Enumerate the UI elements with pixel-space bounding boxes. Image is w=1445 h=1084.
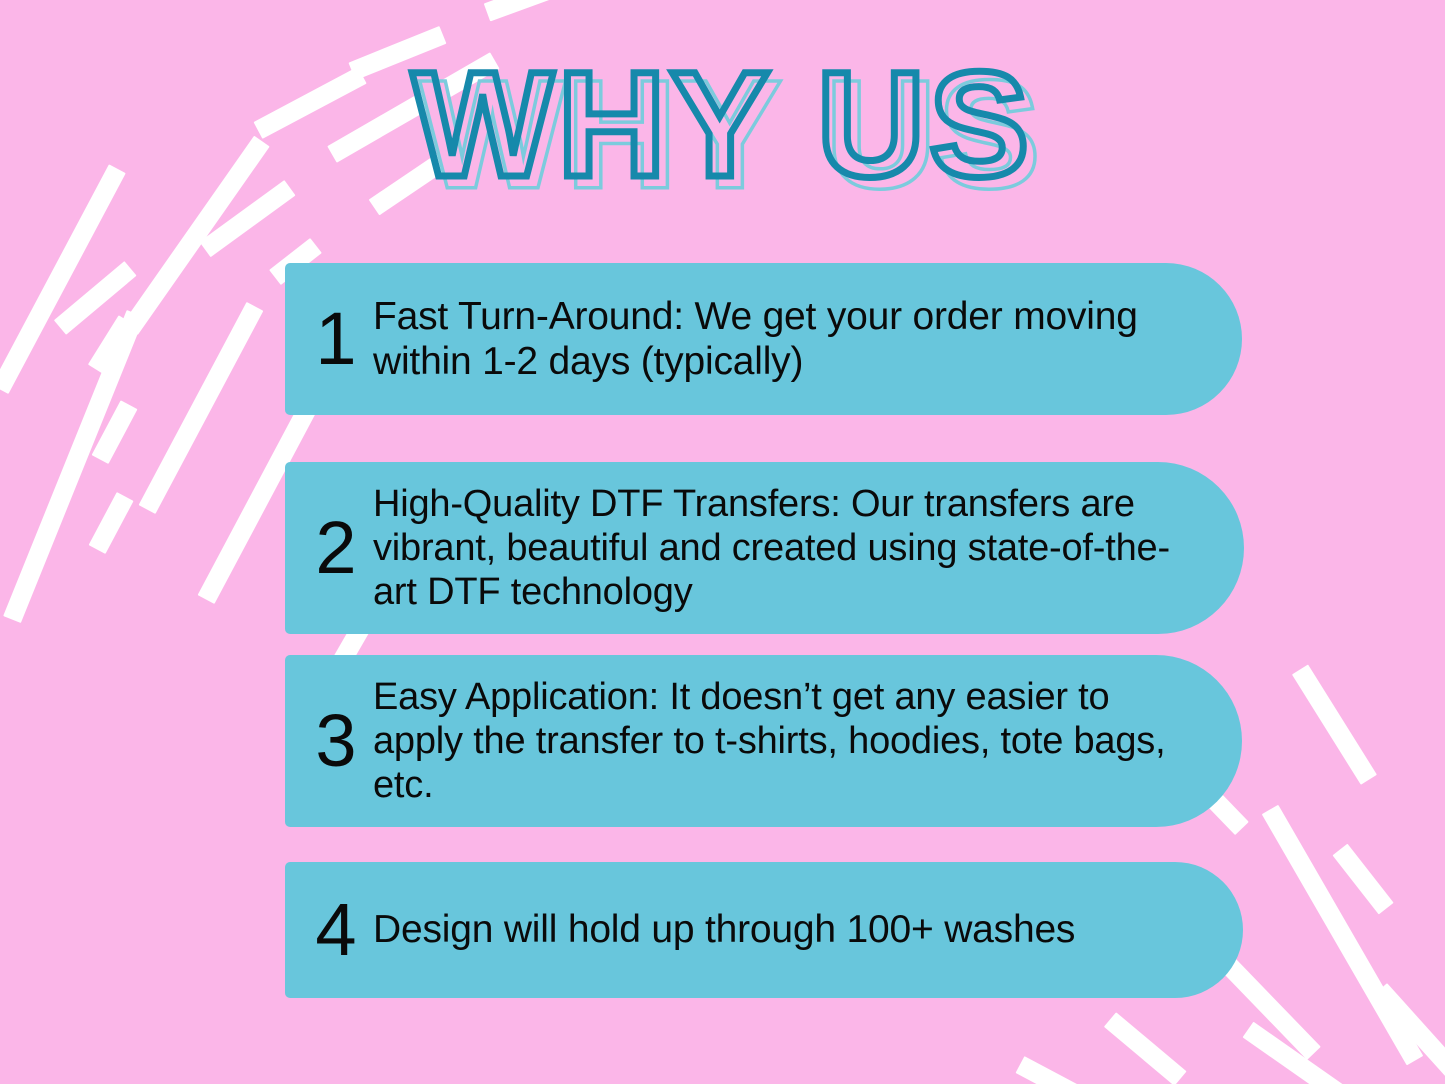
dash-bottom-right-6 [1243,1022,1360,1084]
list-item-number: 1 [299,302,373,376]
dash-top-left-12 [139,302,264,514]
dash-bottom-right-0 [1292,664,1377,784]
list-item-number: 2 [299,511,373,585]
title-outline: WHY US [412,40,1033,208]
dash-bottom-right-7 [1016,1056,1131,1084]
list-item: 4 Design will hold up through 100+ washe… [285,862,1243,998]
list-item: 2 High-Quality DTF Transfers: Our transf… [285,462,1244,634]
dash-top-left-0 [484,0,601,21]
dash-top-left-9 [88,315,135,374]
dash-bottom-right-8 [1373,983,1445,1084]
list-item: 1 Fast Turn-Around: We get your order mo… [285,263,1242,415]
list-item-text: Fast Turn-Around: We get your order movi… [373,294,1242,384]
dash-top-left-13 [89,492,134,554]
dash-bottom-right-5 [1104,1012,1187,1084]
dash-top-left-15 [3,310,144,623]
list-item-text: High-Quality DTF Transfers: Our transfer… [373,482,1244,614]
list-item-number: 3 [299,704,373,778]
dash-bottom-right-3 [1333,844,1394,915]
list-item-text: Design will hold up through 100+ washes [373,907,1243,952]
page-title: WHY US WHY US WHY US [0,46,1445,204]
list-item: 3 Easy Application: It doesn’t get any e… [285,655,1242,827]
list-item-text: Easy Application: It doesn’t get any eas… [373,675,1242,807]
dash-bottom-right-2 [1262,805,1423,1066]
list-item-number: 4 [299,893,373,967]
dash-top-left-11 [92,400,138,464]
title-text-group: WHY US WHY US WHY US [412,46,1033,204]
poster-canvas: WHY US WHY US WHY US 1 Fast Turn-Around:… [0,0,1445,1084]
dash-top-left-7 [54,261,137,335]
